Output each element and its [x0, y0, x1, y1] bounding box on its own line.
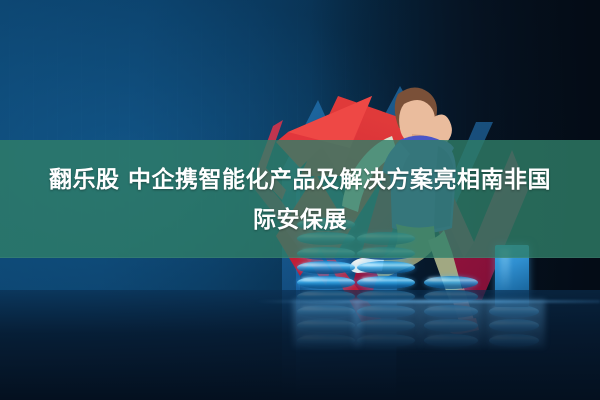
- coin: [297, 261, 355, 274]
- caption-band: [0, 140, 600, 258]
- coin: [297, 276, 355, 289]
- coin: [357, 276, 415, 289]
- caption-line-2: 际安保展: [0, 203, 600, 237]
- coin: [357, 261, 415, 274]
- article-hero-image: 翻乐股 中企携智能化产品及解决方案亮相南非国 际安保展: [0, 0, 600, 400]
- coin-stack-shadow: [420, 300, 484, 348]
- coin-stack-shadow: [293, 300, 361, 348]
- coin: [424, 276, 478, 289]
- coin-stack-shadow: [485, 300, 545, 348]
- coin-stack-shadow: [353, 300, 421, 348]
- caption-line-1: 翻乐股 中企携智能化产品及解决方案亮相南非国: [0, 163, 600, 197]
